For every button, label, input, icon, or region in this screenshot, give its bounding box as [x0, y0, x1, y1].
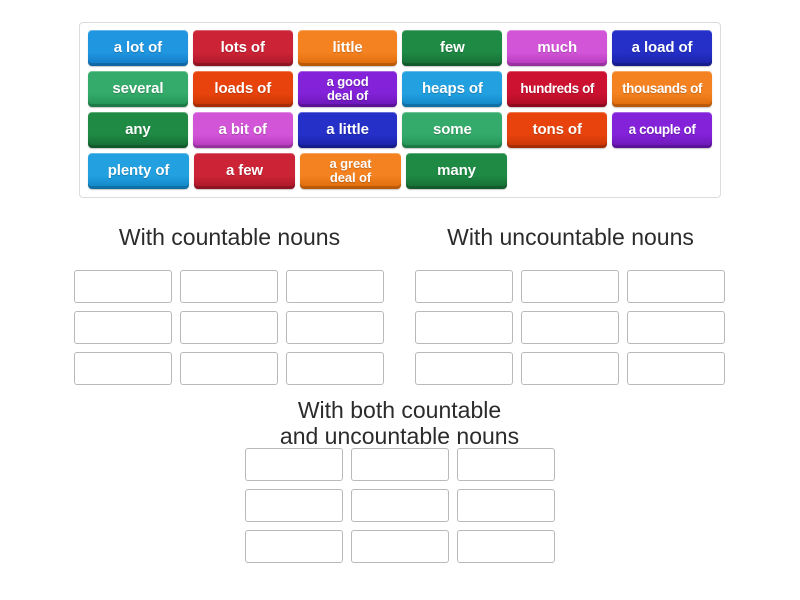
word-tile[interactable]: a load of — [612, 30, 712, 66]
word-tile[interactable]: lots of — [193, 30, 293, 66]
drop-slot[interactable] — [627, 352, 725, 385]
drop-slot[interactable] — [351, 489, 449, 522]
drop-slot[interactable] — [627, 311, 725, 344]
category-heading-uncountable: With uncountable nouns — [413, 225, 728, 251]
word-bank-row: anya bit ofa littlesometons ofa couple o… — [88, 112, 712, 148]
drop-slot[interactable] — [245, 489, 343, 522]
drop-slot[interactable] — [415, 352, 513, 385]
drop-slot[interactable] — [245, 530, 343, 563]
word-tile[interactable]: a bit of — [193, 112, 293, 148]
drop-slot[interactable] — [286, 311, 384, 344]
drop-slot[interactable] — [180, 352, 278, 385]
category-heading-countable: With countable nouns — [72, 225, 387, 251]
word-tile[interactable]: a gooddeal of — [298, 71, 398, 107]
word-tile[interactable]: any — [88, 112, 188, 148]
word-tile[interactable]: heaps of — [402, 71, 502, 107]
word-tile[interactable]: little — [298, 30, 398, 66]
word-tile[interactable]: some — [402, 112, 502, 148]
word-tile[interactable]: loads of — [193, 71, 293, 107]
word-tile[interactable]: a few — [194, 153, 295, 189]
word-bank-row: plenty ofa fewa greatdeal ofmany — [88, 153, 712, 189]
word-tile[interactable]: hundreds of — [507, 71, 607, 107]
word-tile[interactable]: a little — [298, 112, 398, 148]
word-tile[interactable]: thousands of — [612, 71, 712, 107]
word-tile[interactable]: many — [406, 153, 507, 189]
word-tile[interactable]: a greatdeal of — [300, 153, 401, 189]
word-bank-row: a lot oflots oflittlefewmucha load of — [88, 30, 712, 66]
word-tile[interactable]: a lot of — [88, 30, 188, 66]
dropzone-both[interactable] — [245, 448, 567, 563]
drop-slot[interactable] — [74, 311, 172, 344]
drop-slot[interactable] — [351, 530, 449, 563]
drop-slot[interactable] — [521, 352, 619, 385]
word-bank-row: severalloads ofa gooddeal ofheaps ofhund… — [88, 71, 712, 107]
drop-slot[interactable] — [74, 352, 172, 385]
drop-slot[interactable] — [74, 270, 172, 303]
drop-slot[interactable] — [415, 270, 513, 303]
word-tile[interactable]: plenty of — [88, 153, 189, 189]
drop-slot[interactable] — [286, 352, 384, 385]
drop-slot[interactable] — [457, 448, 555, 481]
dropzone-countable[interactable] — [74, 270, 396, 385]
drop-slot[interactable] — [180, 270, 278, 303]
word-bank-container: a lot oflots oflittlefewmucha load ofsev… — [79, 22, 721, 198]
drop-slot[interactable] — [457, 530, 555, 563]
word-tile[interactable]: a couple of — [612, 112, 712, 148]
drop-slot[interactable] — [351, 448, 449, 481]
drop-slot[interactable] — [521, 270, 619, 303]
category-heading-both: With both countable and uncountable noun… — [242, 398, 557, 450]
word-tile[interactable]: tons of — [507, 112, 607, 148]
drop-slot[interactable] — [286, 270, 384, 303]
drop-slot[interactable] — [415, 311, 513, 344]
drop-slot[interactable] — [627, 270, 725, 303]
sorting-activity-page: a lot oflots oflittlefewmucha load ofsev… — [0, 0, 800, 600]
drop-slot[interactable] — [245, 448, 343, 481]
dropzone-uncountable[interactable] — [415, 270, 737, 385]
drop-slot[interactable] — [180, 311, 278, 344]
drop-slot[interactable] — [521, 311, 619, 344]
drop-slot[interactable] — [457, 489, 555, 522]
word-tile[interactable]: few — [402, 30, 502, 66]
word-tile[interactable]: much — [507, 30, 607, 66]
word-tile[interactable]: several — [88, 71, 188, 107]
